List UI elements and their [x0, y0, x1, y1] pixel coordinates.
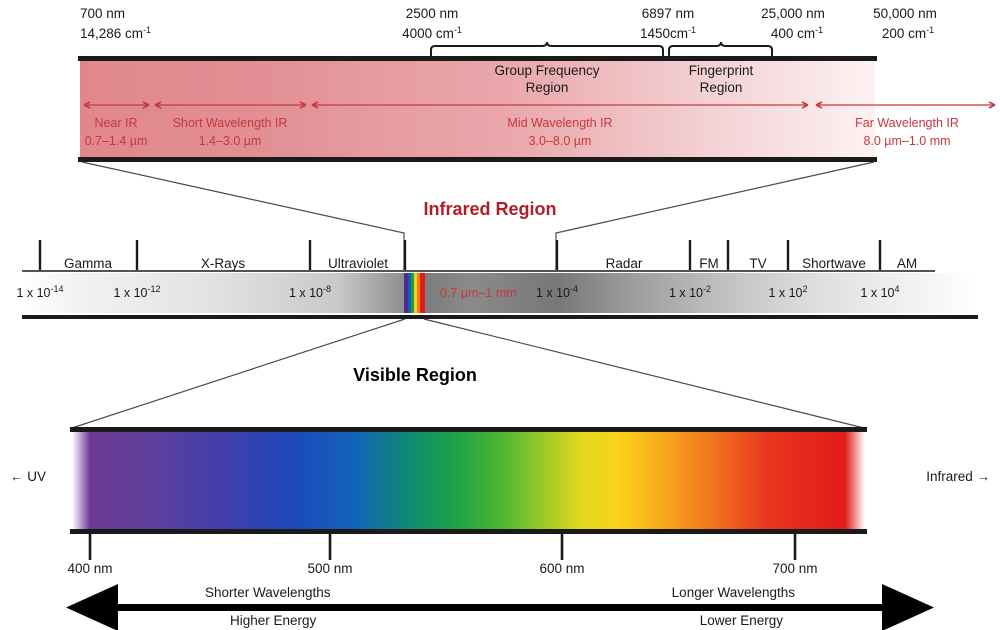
ir-tick-wavenumber: 400 cm-1 [771, 25, 823, 41]
visible-tick-label-700: 700 nm [772, 561, 817, 576]
ir-tick-wavelength: 50,000 nm [873, 6, 937, 21]
em-spectrum-panel: Gamma X-Rays Ultraviolet Radar FM TV Sho… [16, 240, 978, 319]
visible-tick-label-500: 500 nm [307, 561, 352, 576]
em-region-radar: Radar [606, 256, 643, 271]
segment-range-far-ir: 8.0 µm–1.0 mm [863, 134, 950, 148]
em-region-xrays: X-Rays [201, 256, 246, 271]
segment-label-far-ir: Far Wavelength IR [855, 116, 959, 130]
visible-band-bottom-rule [70, 529, 867, 534]
ir-band-top-rule [78, 56, 877, 61]
em-bar-bottom-rule [22, 315, 978, 319]
brace-group-frequency [431, 42, 663, 57]
em-region-shortwave: Shortwave [802, 256, 866, 271]
em-region-gamma: Gamma [64, 256, 113, 271]
connector-visible-right [424, 319, 864, 428]
segment-label-short-ir: Short Wavelength IR [173, 116, 288, 130]
visible-band [90, 430, 845, 530]
em-region-ultraviolet: Ultraviolet [328, 256, 388, 271]
brace-label-group-frequency-2: Region [526, 80, 569, 95]
brace-label-group-frequency: Group Frequency [494, 63, 599, 78]
ir-tick-wavelength: 25,000 nm [761, 6, 825, 21]
em-visible-range-label: 0.7 µm–1 mm [440, 286, 517, 300]
visible-band-top-rule [70, 427, 867, 432]
ir-tick-wavelength: 6897 nm [642, 6, 695, 21]
label-higher-energy: Higher Energy [230, 613, 317, 628]
visible-sliver [404, 273, 425, 313]
em-region-am: AM [897, 256, 917, 271]
visible-wavelength-ticks [90, 534, 795, 560]
segment-range-mid-ir: 3.0–8.0 µm [529, 134, 592, 148]
arrow-head-left [66, 584, 118, 630]
segment-label-mid-ir: Mid Wavelength IR [507, 116, 612, 130]
infrared-region-title: Infrared Region [423, 199, 556, 219]
ir-tick-wavenumber: 200 cm-1 [882, 25, 934, 41]
visible-wavelength-labels: 400 nm 500 nm 600 nm 700 nm [67, 561, 817, 576]
segment-label-near-ir: Near IR [94, 116, 137, 130]
ir-tick-wavenumber: 14,286 cm-1 [80, 25, 151, 41]
visible-tick-label-400: 400 nm [67, 561, 112, 576]
ir-band-bottom-rule [78, 157, 877, 162]
ir-tick-wavelength: 2500 nm [406, 6, 459, 21]
em-region-fm: FM [699, 256, 719, 271]
visible-tick-label-600: 600 nm [539, 561, 584, 576]
brace-label-fingerprint: Fingerprint [689, 63, 754, 78]
visible-fade-right [845, 430, 865, 530]
energy-direction-arrow [66, 584, 934, 630]
spectrum-diagram: 700 nm 14,286 cm-1 2500 nm 4000 cm-1 689… [0, 0, 1000, 630]
label-lower-energy: Lower Energy [700, 613, 784, 628]
label-longer-wavelengths: Longer Wavelengths [672, 585, 796, 600]
segment-range-short-ir: 1.4–3.0 µm [199, 134, 262, 148]
region-braces [431, 42, 772, 57]
ir-tick-labels: 700 nm 14,286 cm-1 2500 nm 4000 cm-1 689… [80, 6, 937, 41]
visible-fade-left [72, 430, 90, 530]
visible-region-title: Visible Region [353, 365, 477, 385]
infrared-direction-label: Infrared → [926, 469, 990, 484]
connector-left [82, 162, 404, 270]
label-shorter-wavelengths: Shorter Wavelengths [205, 585, 331, 600]
em-scale-label: 1 x 104 [860, 284, 899, 300]
segment-range-near-ir: 0.7–1.4 µm [85, 134, 148, 148]
em-scale-label: 1 x 102 [768, 284, 807, 300]
brace-label-fingerprint-2: Region [700, 80, 743, 95]
ir-tick-wavenumber: 4000 cm-1 [402, 25, 462, 41]
connector-right [556, 162, 874, 270]
ir-tick-wavenumber: 1450cm-1 [640, 25, 696, 41]
em-region-tv: TV [749, 256, 766, 271]
visible-panel: ← UV Infrared → 400 nm 500 nm 600 nm 700… [10, 427, 990, 630]
brace-fingerprint [669, 42, 772, 57]
ir-panel: 700 nm 14,286 cm-1 2500 nm 4000 cm-1 689… [78, 6, 995, 162]
ir-tick-wavelength: 700 nm [80, 6, 125, 21]
arrow-head-right [882, 584, 934, 630]
uv-direction-label: ← UV [10, 469, 46, 484]
